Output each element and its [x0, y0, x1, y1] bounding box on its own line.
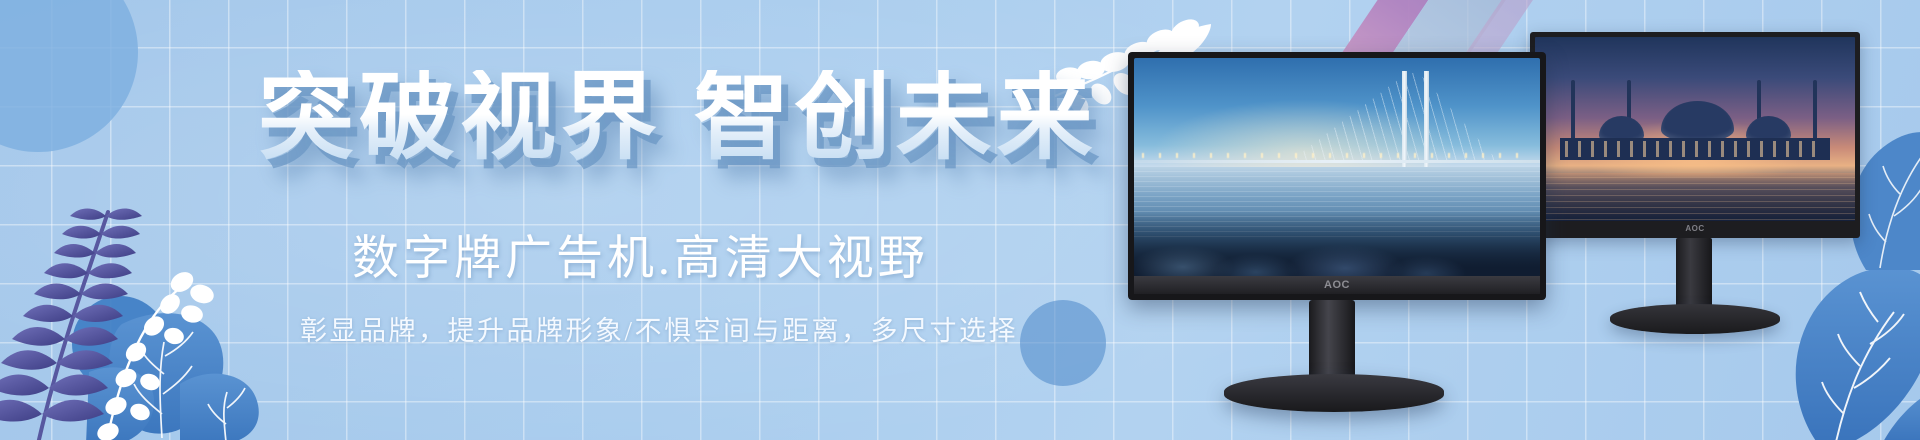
aoc-logo-text: AOC [1324, 280, 1350, 291]
front-monitor: AOC [1128, 52, 1546, 412]
aoc-logo-text: AOC [1685, 225, 1704, 233]
product-images: AOC [1080, 0, 1920, 440]
promo-banner: 突破视界 智创未来 数字牌广告机.高清大视野 彰显品牌，提升品牌形象/不惧空间与… [0, 0, 1920, 440]
front-monitor-panel: AOC [1128, 52, 1546, 300]
bridge-dusk-photo [1134, 58, 1540, 276]
front-monitor-brand-logo: AOC [1134, 276, 1540, 294]
front-monitor-stand-base [1224, 374, 1444, 412]
rear-monitor-brand-logo: AOC [1530, 222, 1860, 236]
page-title: 突破视界 智创未来 [258, 70, 1098, 166]
tagline: 彰显品牌，提升品牌形象/不惧空间与距离，多尺寸选择 [300, 318, 1018, 345]
rear-monitor: AOC [1530, 32, 1860, 342]
rear-monitor-stand-neck [1676, 238, 1712, 310]
subtitle: 数字牌广告机.高清大视野 [352, 236, 929, 283]
rear-monitor-stand-base [1610, 304, 1780, 334]
rear-monitor-screen [1535, 37, 1855, 221]
copy-block: 突破视界 智创未来 数字牌广告机.高清大视野 彰显品牌，提升品牌形象/不惧空间与… [0, 0, 1100, 440]
front-monitor-stand-neck [1309, 300, 1355, 382]
mosque-sunset-photo [1535, 37, 1855, 221]
rear-monitor-panel: AOC [1530, 32, 1860, 238]
front-monitor-screen [1134, 58, 1540, 276]
